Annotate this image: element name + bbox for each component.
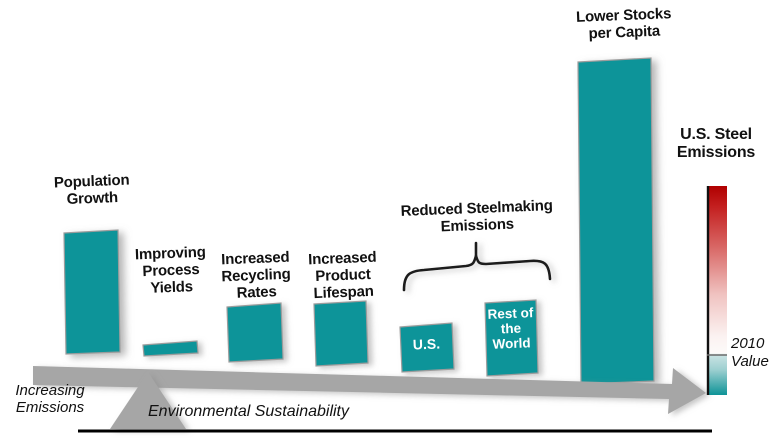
bar-improving-process-yields (143, 341, 198, 356)
bar-increased-product-lifespan (314, 301, 368, 366)
bar-us (400, 323, 454, 372)
bar-increased-recycling-rates (227, 303, 283, 362)
bar-label-lower-stocks-per-capita: Lower Stocks per Capita (547, 5, 700, 44)
bar-rest-of-world (485, 300, 538, 376)
steel-emissions-infographic: Population Growth Improving Process Yiel… (0, 0, 770, 439)
colorbar-title: U.S. Steel Emissions (663, 126, 769, 162)
bar-population-growth (64, 230, 120, 354)
bar-label-increased-product-lifespan: Increased Product Lifespan (288, 249, 398, 303)
axis-label-environmental-sustainability: Environmental Sustainability (148, 403, 408, 421)
bar-lower-stocks-per-capita (578, 58, 654, 384)
bracket-reduced-steelmaking (404, 243, 550, 290)
axis-label-increasing-emissions: Increasing Emissions (2, 382, 98, 417)
colorbar-tick-label: 2010 Value (731, 335, 770, 371)
bar-label-population-growth: Population Growth (33, 172, 150, 210)
colorbar (707, 186, 727, 395)
